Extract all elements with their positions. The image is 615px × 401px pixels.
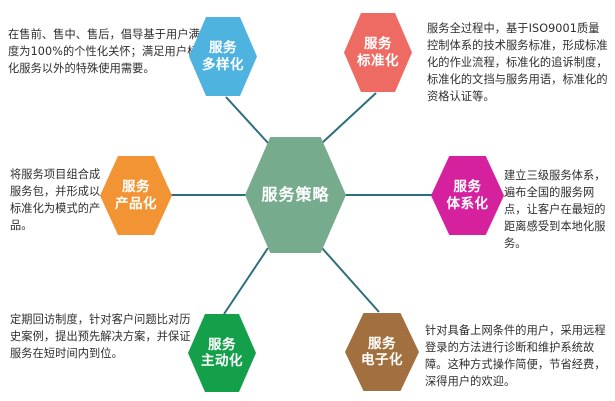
node-electronization-label-line2: 电子化 bbox=[361, 352, 403, 368]
description-systematization: 建立三级服务体系，遍布全国的服务网点，让客户在最短的距离感受到本地化服务。 bbox=[504, 167, 608, 252]
node-diversification-label-line2: 多样化 bbox=[202, 57, 244, 73]
description-electronization: 针对具备上网条件的用户，采用远程登录的方法进行诊断和维护系统故障。这种方式操作简… bbox=[425, 322, 609, 390]
connector-center-to-diversification bbox=[226, 97, 268, 143]
center-node-label: 服务策略 bbox=[261, 185, 329, 205]
node-systematization-label-line2: 体系化 bbox=[447, 196, 489, 212]
node-diversification-label-line1: 服务 bbox=[209, 40, 237, 56]
node-productization-label-line2: 产品化 bbox=[115, 196, 157, 212]
description-diversification: 在售前、售中、售后，倡导基于用户满意度为100%的个性化关怀；满足用户标准化服务… bbox=[8, 26, 213, 77]
node-electronization-label-line1: 服务 bbox=[368, 336, 396, 352]
node-proactivity-label-line2: 主动化 bbox=[201, 353, 243, 369]
connector-center-to-proactivity bbox=[224, 248, 268, 314]
description-standardization: 服务全过程中，基于ISO9001质量控制体系的技术服务标准，形成标准化的作业流程… bbox=[427, 20, 609, 105]
connector-center-to-electronization bbox=[322, 248, 379, 312]
description-proactivity: 定期回访制度，针对客户问题比对历史案例，提出预先解决方案，并保证服务在短时间内到… bbox=[10, 311, 200, 362]
node-productization-label-line1: 服务 bbox=[122, 179, 150, 195]
node-standardization-label-line2: 标准化 bbox=[357, 53, 399, 69]
description-productization: 将服务项目组合成服务包，并形成以标准化为模式的产品。 bbox=[10, 166, 106, 234]
service-strategy-diagram: 服务策略 服务 多样化 在售前、售中、售后，倡导基于用户满意度为100%的个性化… bbox=[0, 0, 615, 401]
node-standardization-label-line1: 服务 bbox=[364, 36, 392, 52]
node-proactivity-label-line1: 服务 bbox=[208, 337, 236, 353]
connector-center-to-standardization bbox=[322, 93, 376, 143]
node-systematization-label-line1: 服务 bbox=[454, 179, 482, 195]
